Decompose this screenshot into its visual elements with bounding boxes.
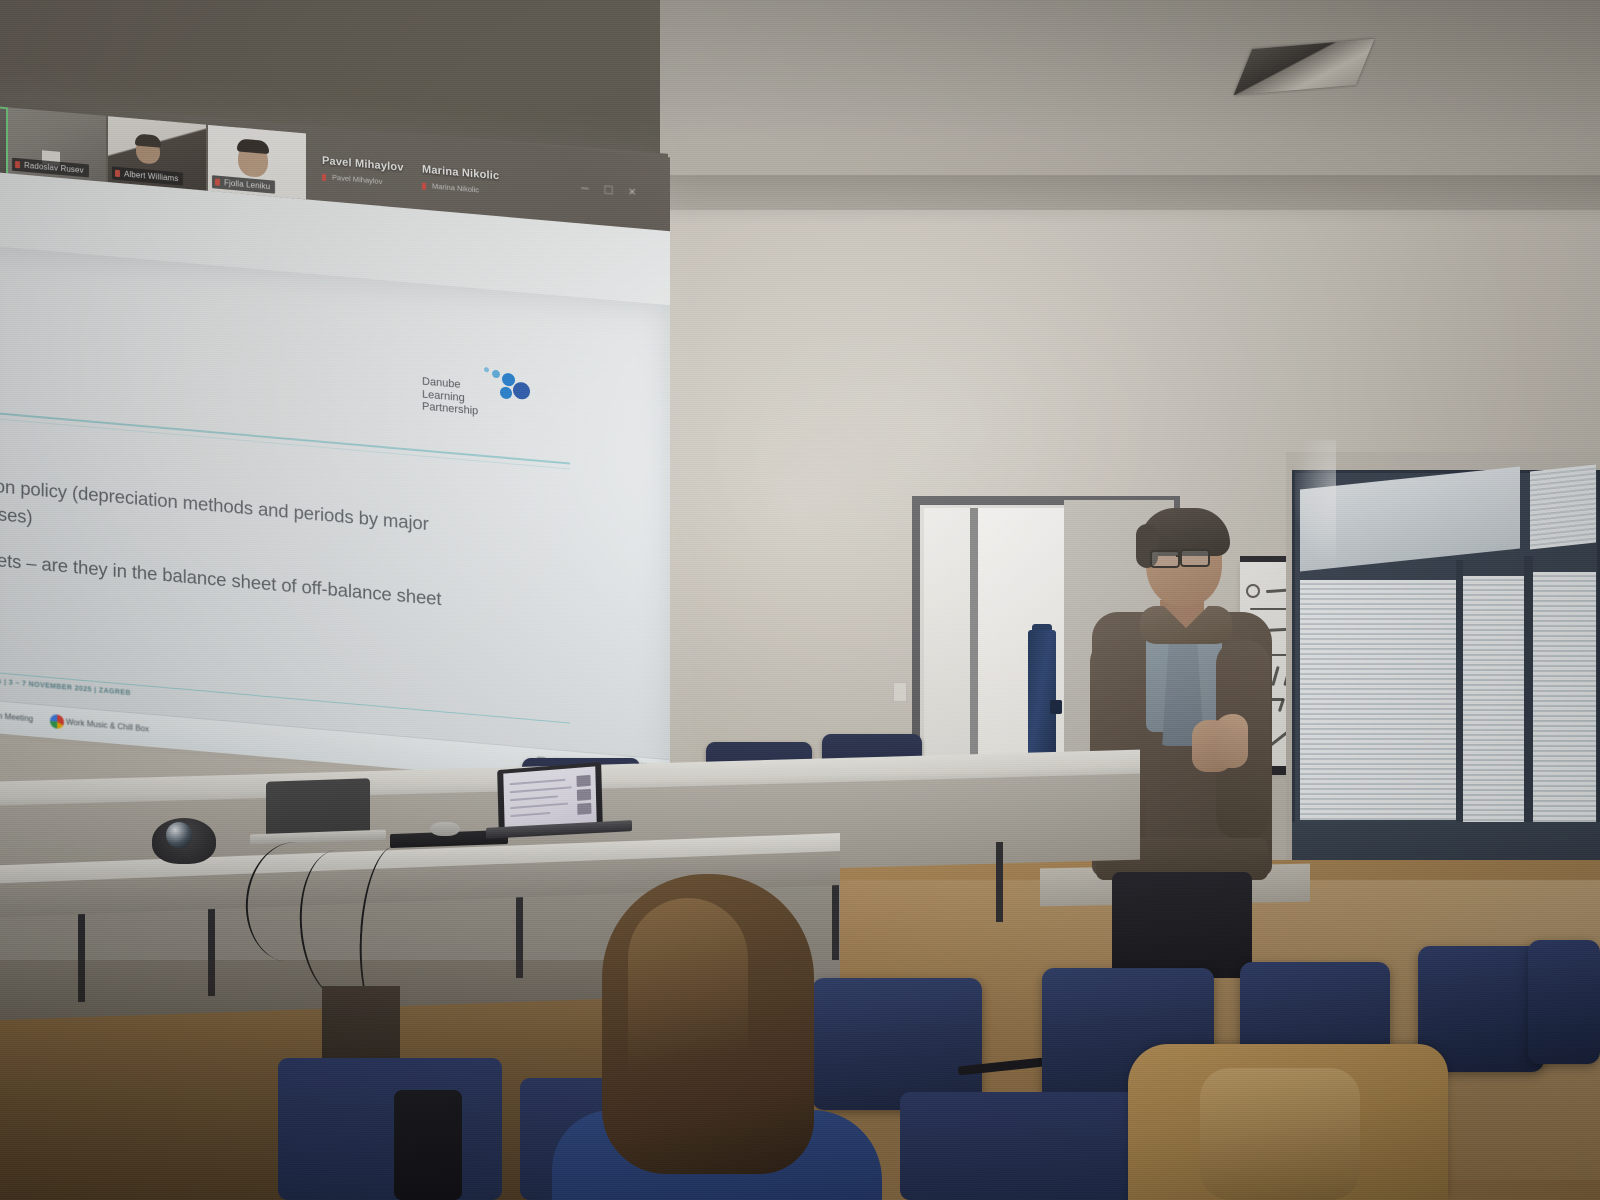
presentation-slide: Danube Learning Partnership preciation p… [0, 170, 670, 791]
window-top-blind-right [1530, 465, 1596, 550]
logo-text: Danube Learning Partnership [422, 376, 478, 418]
light-switch[interactable] [893, 682, 907, 702]
taskbar-item-zoom-meeting-label: Zoom Meeting [0, 710, 33, 723]
seated-attendee [556, 874, 886, 1200]
presenter-trousers [1112, 872, 1252, 978]
bag-on-chair [394, 1090, 462, 1200]
wall-ceiling-junction [600, 175, 1600, 315]
tripod-knob [1050, 700, 1062, 714]
taskbar-item-work-music-label: Work Music & Chill Box [66, 717, 149, 733]
zoom-tile-radoslav-rusev[interactable]: Radoslav Rusev [8, 107, 106, 182]
foreground-chair-left-seat[interactable] [278, 1058, 502, 1200]
glasses-lens-right [1180, 549, 1210, 567]
foreground-chair-2-seat[interactable] [900, 1092, 1140, 1200]
camera-lens-icon [166, 822, 192, 848]
wireless-mouse[interactable] [430, 822, 460, 836]
maximize-icon[interactable]: □ [605, 182, 629, 199]
window-light-glow [1292, 440, 1336, 570]
window-blind-right [1532, 572, 1596, 822]
door-gap [970, 508, 978, 794]
projection-screen: Radoslav Rusev Albert Williams Fjolla Le… [0, 96, 670, 797]
attendee-hair-highlight [628, 898, 748, 1128]
foreground-chair-5-back[interactable] [1528, 940, 1600, 1064]
zoom-tile-albert-williams[interactable]: Albert Williams [108, 116, 206, 191]
laptop-rear[interactable] [266, 778, 370, 838]
conference-room-photo: Radoslav Rusev Albert Williams Fjolla Le… [0, 0, 1600, 1200]
presenter-hand-right [1214, 714, 1248, 768]
chrome-icon [50, 714, 64, 729]
danube-learning-partnership-logo: Danube Learning Partnership [422, 362, 530, 437]
table-leg-5 [996, 842, 1003, 922]
zoom-tile-0[interactable] [0, 103, 8, 177]
close-icon[interactable]: × [628, 184, 652, 201]
taskbar-item-zoom-meeting[interactable]: Zoom Meeting [0, 706, 33, 726]
zoom-tile-0-video [0, 105, 6, 175]
presenter-speaking [1084, 508, 1284, 978]
zoom-tile-fjolla-leniku[interactable]: Fjolla Leniku [208, 125, 306, 200]
door-leaf-left[interactable] [924, 508, 970, 794]
coat-fold [1200, 1068, 1360, 1200]
minimize-icon[interactable]: – [581, 179, 604, 196]
glasses-icon [1150, 550, 1180, 568]
window-blind-middle [1462, 576, 1524, 822]
taskbar-item-work-music[interactable]: Work Music & Chill Box [48, 714, 149, 737]
slide-body-text: preciation policy (depreciation methods … [0, 467, 536, 621]
glasses-bridge [1176, 555, 1182, 557]
laptop-screen [503, 766, 596, 829]
window-blind-left [1300, 580, 1456, 820]
